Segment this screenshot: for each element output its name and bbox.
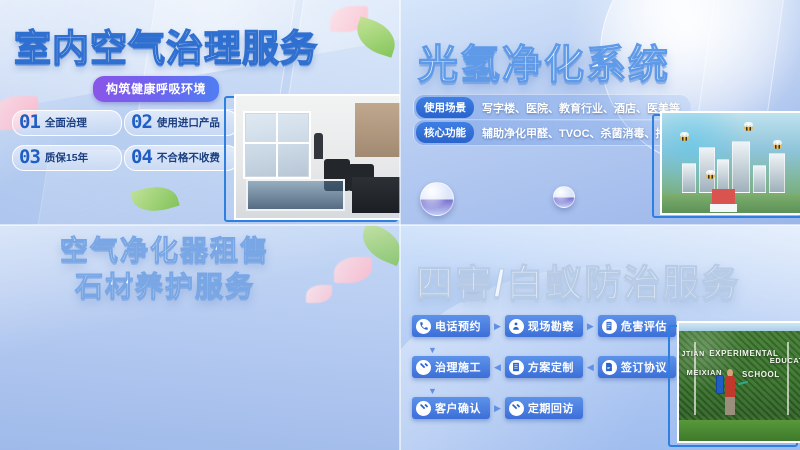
step-site-survey[interactable]: 现场勘察 bbox=[505, 315, 583, 337]
tools-icon bbox=[416, 401, 431, 416]
process-steps: 电话预约 ▶ 现场勘察 ▶ 危害评估 ▼ bbox=[412, 315, 676, 428]
tools-icon bbox=[509, 401, 524, 416]
photo-sign-text: EXPERIMENTAL bbox=[709, 349, 778, 358]
water-droplet-icon bbox=[553, 186, 575, 208]
contract-pen-icon bbox=[602, 360, 617, 375]
info-row-value: 写字楼、医院、教育行业、酒店、医美等 bbox=[482, 100, 680, 116]
panel-photohydrogen-system: 光氢净化系统 使用场景 写字楼、医院、教育行业、酒店、医美等 核心功能 辅助净化… bbox=[400, 0, 800, 225]
step-label: 危害评估 bbox=[621, 318, 667, 334]
feature-badge[interactable]: 02 使用进口产品 bbox=[124, 110, 239, 136]
arrow-left-icon: ◀ bbox=[587, 363, 594, 372]
clipboard-icon bbox=[602, 319, 617, 334]
office-photo-frame bbox=[224, 96, 398, 222]
petal-decor bbox=[334, 257, 372, 283]
step-label: 治理施工 bbox=[435, 359, 481, 375]
document-list-icon bbox=[509, 360, 524, 375]
step-regular-followup[interactable]: 定期回访 bbox=[505, 397, 583, 419]
panel-title-pest-control: 四害/白蚁防治服务 bbox=[416, 253, 740, 307]
feature-number: 01 bbox=[19, 113, 40, 132]
worker-figure bbox=[722, 368, 738, 415]
feature-label: 不合格不收费 bbox=[157, 150, 220, 165]
smart-city-photo bbox=[660, 111, 800, 215]
horizontal-divider bbox=[0, 224, 800, 226]
city-photo-frame bbox=[652, 114, 800, 218]
step-phone-booking[interactable]: 电话预约 bbox=[412, 315, 490, 337]
panel-title-photohydrogen: 光氢净化系统 bbox=[418, 32, 670, 90]
feature-number: 04 bbox=[131, 148, 152, 167]
petal-decor bbox=[306, 285, 332, 303]
step-label: 电话预约 bbox=[435, 318, 481, 334]
feature-label: 全面治理 bbox=[45, 115, 87, 130]
water-droplet-icon bbox=[420, 182, 454, 216]
photo-sign-text: JTIAN bbox=[682, 351, 705, 358]
hedge-photo-frame: JTIAN EXPERIMENTAL EDUCATION MEIXIAN SCH… bbox=[668, 325, 798, 447]
promo-board: 室内空气治理服务 构筑健康呼吸环境 01 全面治理 02 使用进口产品 03 质… bbox=[0, 0, 800, 450]
step-label: 客户确认 bbox=[435, 400, 481, 416]
step-hazard-assessment[interactable]: 危害评估 bbox=[598, 315, 676, 337]
process-step-row-2: 治理施工 ◀ 方案定制 ◀ 签订协议 bbox=[412, 356, 676, 378]
arrow-down-icon: ▼ bbox=[428, 346, 676, 355]
step-label: 签订协议 bbox=[621, 359, 667, 375]
health-breathing-tag: 构筑健康呼吸环境 bbox=[93, 76, 219, 102]
title-line-2: 石材养护服务 bbox=[60, 269, 270, 305]
arrow-down-icon: ▼ bbox=[428, 387, 676, 396]
title-line-1: 空气净化器租售 bbox=[60, 235, 270, 266]
process-step-row-3: 客户确认 ▶ 定期回访 bbox=[412, 397, 676, 419]
step-plan-customization[interactable]: 方案定制 bbox=[505, 356, 583, 378]
panel-title-purifier-stone: 空气净化器租售 石材养护服务 bbox=[60, 233, 270, 305]
feature-label: 质保15年 bbox=[45, 150, 88, 165]
process-step-row-1: 电话预约 ▶ 现场勘察 ▶ 危害评估 bbox=[412, 315, 676, 337]
info-row-label: 使用场景 bbox=[416, 97, 474, 118]
tools-icon bbox=[416, 360, 431, 375]
step-sign-agreement[interactable]: 签订协议 bbox=[598, 356, 676, 378]
person-search-icon bbox=[509, 319, 524, 334]
arrow-right-icon: ▶ bbox=[587, 322, 594, 331]
arrow-right-icon: ▶ bbox=[494, 322, 501, 331]
step-label: 方案定制 bbox=[528, 359, 574, 375]
panel-indoor-air-treatment: 室内空气治理服务 构筑健康呼吸环境 01 全面治理 02 使用进口产品 03 质… bbox=[0, 0, 400, 225]
feature-number: 02 bbox=[131, 113, 152, 132]
step-treatment-construction[interactable]: 治理施工 bbox=[412, 356, 490, 378]
info-row-scenarios: 使用场景 写字楼、医院、教育行业、酒店、医美等 bbox=[413, 94, 691, 121]
step-label: 现场勘察 bbox=[528, 318, 574, 334]
photo-sign-text: EDUCATION bbox=[770, 356, 800, 365]
feature-badge[interactable]: 03 质保15年 bbox=[12, 145, 122, 171]
info-row-label: 核心功能 bbox=[416, 122, 474, 143]
arrow-left-icon: ◀ bbox=[494, 363, 501, 372]
feature-label: 使用进口产品 bbox=[157, 115, 220, 130]
feature-number: 03 bbox=[19, 148, 40, 167]
feature-badge[interactable]: 01 全面治理 bbox=[12, 110, 122, 136]
step-customer-confirmation[interactable]: 客户确认 bbox=[412, 397, 490, 419]
telephone-icon bbox=[416, 319, 431, 334]
pest-control-worker-photo: JTIAN EXPERIMENTAL EDUCATION MEIXIAN SCH… bbox=[677, 321, 800, 443]
office-photo bbox=[234, 94, 400, 220]
panel-title-indoor-air: 室内空气治理服务 bbox=[14, 18, 318, 72]
panel-purifier-and-stone-care: 空气净化器租售 石材养护服务 空气净化器租售 石材养护翻新 bbox=[0, 225, 400, 450]
arrow-right-icon: ▶ bbox=[494, 404, 501, 413]
photo-sign-text: SCHOOL bbox=[742, 370, 780, 379]
step-label: 定期回访 bbox=[528, 400, 574, 416]
feature-badge[interactable]: 04 不合格不收费 bbox=[124, 145, 239, 171]
feature-badge-grid: 01 全面治理 02 使用进口产品 03 质保15年 04 不合格不收费 bbox=[12, 110, 239, 171]
panel-pest-control: 四害/白蚁防治服务 电话预约 ▶ 现场勘察 ▶ bbox=[400, 225, 800, 450]
